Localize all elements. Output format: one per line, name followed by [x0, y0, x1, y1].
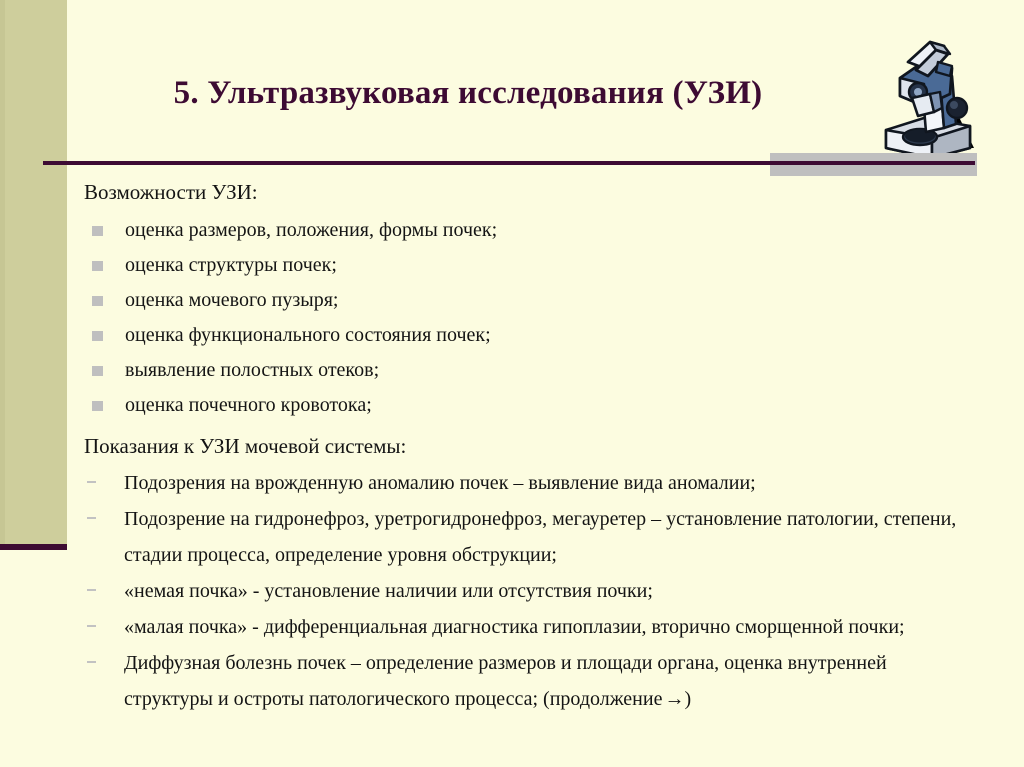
list-item: оценка функционального состояния почек;: [92, 318, 1024, 353]
dash-bullet-icon: [87, 625, 96, 627]
list-item: выявление полостных отеков;: [92, 353, 1024, 388]
list-item: оценка мочевого пузыря;: [92, 283, 1024, 318]
list-item: Подозрения на врожденную аномалию почек …: [87, 465, 1024, 501]
list-item: оценка структуры почек;: [92, 248, 1024, 283]
square-bullet-icon: [92, 331, 103, 341]
dash-bullet-icon: [87, 661, 96, 663]
list-item-label: «немая почка» - установление наличии или…: [124, 580, 653, 602]
list-item: «немая почка» - установление наличии или…: [87, 573, 1024, 609]
list-item-label: «малая почка» - дифференциальная диагнос…: [124, 616, 905, 638]
list-item: «малая почка» - дифференциальная диагнос…: [87, 609, 1024, 645]
list-item-label: выявление полостных отеков;: [125, 359, 379, 381]
list-item: оценка почечного кровотока;: [92, 388, 1024, 423]
list-item: оценка размеров, положения, формы почек;: [92, 213, 1024, 248]
list-item-label: оценка почечного кровотока;: [125, 394, 372, 416]
slide: 5. Ультразвуковая исследования (УЗИ): [0, 0, 1024, 767]
title-block: 5. Ультразвуковая исследования (УЗИ): [88, 63, 848, 123]
square-bullet-icon: [92, 296, 103, 306]
list-item: Подозрение на гидронефроз, уретрогидроне…: [87, 501, 1024, 573]
right-arrow-icon: →: [662, 681, 684, 717]
indications-list: Подозрения на врожденную аномалию почек …: [0, 465, 1024, 717]
list-item-label: оценка структуры почек;: [125, 254, 337, 276]
square-bullet-icon: [92, 401, 103, 411]
capabilities-list: оценка размеров, положения, формы почек;…: [0, 213, 1024, 423]
dash-bullet-icon: [87, 481, 96, 483]
dash-bullet-icon: [87, 517, 96, 519]
square-bullet-icon: [92, 226, 103, 236]
list-item: Диффузная болезнь почек – определение ра…: [87, 645, 1024, 717]
page-title: 5. Ультразвуковая исследования (УЗИ): [174, 75, 763, 111]
section-heading-capabilities: Возможности УЗИ:: [84, 178, 1024, 206]
dash-bullet-icon: [87, 589, 96, 591]
list-item-label: Диффузная болезнь почек – определение ра…: [124, 652, 887, 710]
header-rule: [43, 161, 975, 165]
list-item-label: оценка функционального состояния почек;: [125, 324, 491, 346]
square-bullet-icon: [92, 366, 103, 376]
slide-body: Возможности УЗИ: оценка размеров, положе…: [0, 178, 1024, 717]
continuation-note: (продолжение→): [538, 688, 691, 710]
continuation-close: ): [684, 688, 691, 710]
list-item-label: Подозрение на гидронефроз, уретрогидроне…: [124, 508, 956, 566]
list-item-label: оценка мочевого пузыря;: [125, 289, 338, 311]
microscope-icon: [878, 36, 990, 164]
square-bullet-icon: [92, 261, 103, 271]
list-item-label: Подозрения на врожденную аномалию почек …: [124, 472, 756, 494]
section-heading-indications: Показания к УЗИ мочевой системы:: [84, 432, 1024, 460]
list-item-label: оценка размеров, положения, формы почек;: [125, 219, 497, 241]
continuation-text: (продолжение: [543, 688, 662, 710]
